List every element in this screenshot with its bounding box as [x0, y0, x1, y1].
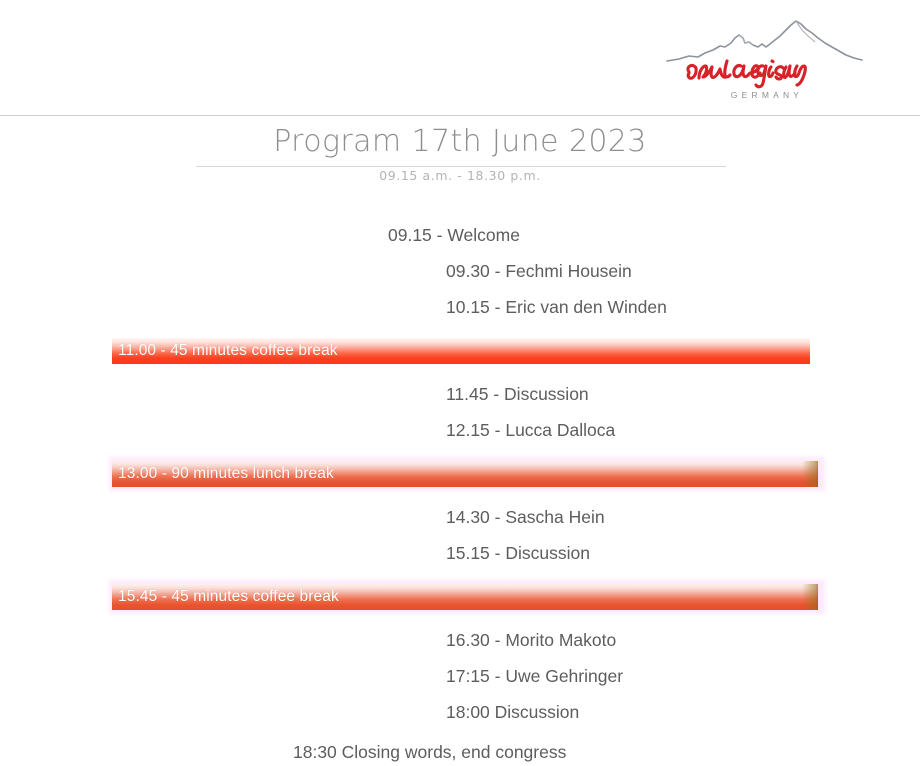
row-spacer [0, 654, 920, 663]
row-spacer [0, 690, 920, 699]
row-spacer [0, 249, 920, 258]
page-title: Program 17th June 2023 [0, 124, 920, 160]
page-subtitle: 09.15 a.m. - 18.30 p.m. [0, 168, 920, 183]
agenda-session-row: 14.30 - Sascha Hein [0, 504, 920, 531]
row-spacer [0, 364, 920, 381]
agenda-break-row: 15.45 - 45 minutes coffee break [112, 584, 818, 610]
agenda-session-row: 09.15 - Welcome [0, 222, 920, 249]
agenda-session-row: 11.45 - Discussion [0, 381, 920, 408]
row-spacer [0, 444, 920, 461]
agenda-session-row: 10.15 - Eric van den Winden [0, 294, 920, 321]
row-spacer [0, 610, 920, 627]
break-label: 13.00 - 90 minutes lunch break [118, 461, 334, 487]
oral-design-wordmark [683, 56, 848, 90]
row-spacer [0, 531, 920, 540]
oral-design-logo: GERMANY [665, 16, 865, 108]
agenda-session-row: 17:15 - Uwe Gehringer [0, 663, 920, 690]
title-divider [196, 166, 726, 167]
agenda-break-row: 13.00 - 90 minutes lunch break [112, 461, 818, 487]
row-spacer [0, 321, 920, 338]
page-header: GERMANY [0, 0, 920, 116]
agenda-session-row: 16.30 - Morito Makoto [0, 627, 920, 654]
agenda-session-row: 09.30 - Fechmi Housein [0, 258, 920, 285]
agenda-session-row: 15.15 - Discussion [0, 540, 920, 567]
row-spacer [0, 487, 920, 504]
agenda-session-row: 12.15 - Lucca Dalloca [0, 417, 920, 444]
agenda-session-row: 18:30 Closing words, end congress [0, 739, 920, 766]
agenda-break-row: 11.00 - 45 minutes coffee break [112, 338, 810, 364]
row-spacer [0, 567, 920, 584]
agenda-list: 09.15 - Welcome09.30 - Fechmi Housein10.… [0, 222, 920, 766]
row-spacer [0, 726, 920, 739]
title-block: Program 17th June 2023 09.15 a.m. - 18.3… [0, 124, 920, 183]
header-divider [0, 115, 920, 116]
row-spacer [0, 285, 920, 294]
break-label: 11.00 - 45 minutes coffee break [118, 338, 338, 364]
row-spacer [0, 408, 920, 417]
break-label: 15.45 - 45 minutes coffee break [118, 584, 339, 610]
logo-country-label: GERMANY [665, 90, 865, 100]
agenda-session-row: 18:00 Discussion [0, 699, 920, 726]
